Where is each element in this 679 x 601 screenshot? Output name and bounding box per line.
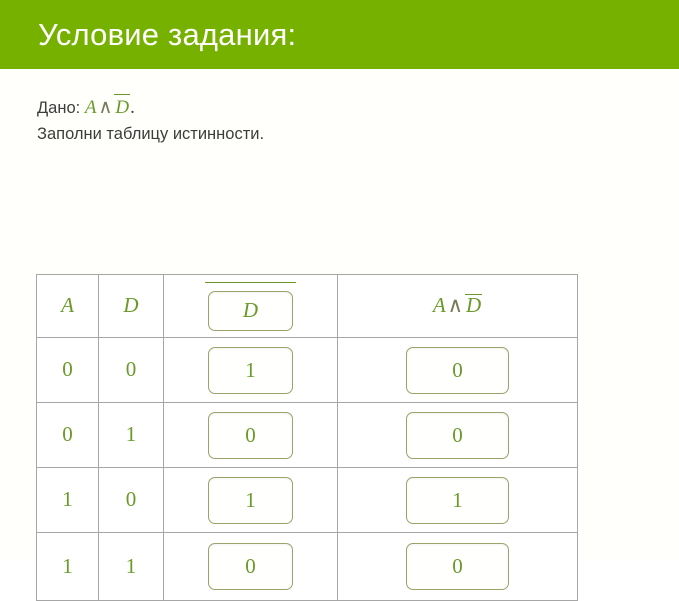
- cell-expression: 0: [338, 403, 578, 468]
- given-line: Дано: A∧D.: [37, 95, 679, 121]
- input-expression[interactable]: 1: [406, 477, 509, 524]
- input-expression[interactable]: 0: [406, 412, 509, 459]
- cell-d: 1: [99, 533, 164, 601]
- input-not-d[interactable]: 1: [208, 477, 293, 524]
- cell-a: 1: [37, 533, 99, 601]
- cell-not-d: 0: [164, 533, 338, 601]
- cell-d-value: 1: [126, 554, 137, 578]
- input-not-d-value: 1: [245, 360, 256, 381]
- header-expr-operand-a: A: [433, 293, 446, 317]
- cell-not-d: 1: [164, 338, 338, 403]
- cell-not-d: 0: [164, 403, 338, 468]
- cell-d-value: 0: [126, 357, 137, 381]
- input-expression-value: 0: [452, 556, 463, 577]
- input-not-d[interactable]: 0: [208, 543, 293, 590]
- table-header-row: A D D A∧D: [37, 275, 578, 338]
- page-header: Условие задания:: [0, 0, 679, 69]
- header-expr-negated-d: D: [465, 295, 482, 316]
- cell-d: 0: [99, 468, 164, 533]
- header-label-expression: A∧D: [433, 293, 482, 317]
- truth-table-container: A D D A∧D: [36, 274, 578, 601]
- header-negation-group: D: [208, 282, 293, 331]
- cell-a-value: 0: [62, 422, 73, 446]
- given-formula: A∧D.: [85, 97, 135, 118]
- given-formula-period: .: [130, 97, 135, 118]
- cell-d-value: 1: [126, 422, 137, 446]
- instruction-line: Заполни таблицу истинности.: [37, 121, 679, 147]
- cell-d: 0: [99, 338, 164, 403]
- input-expression-value: 0: [452, 425, 463, 446]
- table-row: 1 1 0 0: [37, 533, 578, 601]
- table-row: 1 0 1 1: [37, 468, 578, 533]
- cell-a: 0: [37, 403, 99, 468]
- cell-a: 0: [37, 338, 99, 403]
- header-label-d: D: [123, 293, 138, 317]
- cell-a-value: 1: [62, 554, 73, 578]
- input-not-d[interactable]: 0: [208, 412, 293, 459]
- given-label: Дано:: [37, 99, 80, 117]
- header-label-a: A: [61, 293, 74, 317]
- header-input-not-d-value: D: [243, 300, 258, 321]
- cell-expression: 1: [338, 468, 578, 533]
- task-content: Дано: A∧D. Заполни таблицу истинности. A: [0, 69, 679, 561]
- input-not-d[interactable]: 1: [208, 347, 293, 394]
- input-not-d-value: 0: [245, 425, 256, 446]
- cell-expression: 0: [338, 338, 578, 403]
- cell-a-value: 1: [62, 487, 73, 511]
- header-cell-not-d: D: [164, 275, 338, 338]
- table-row: 0 1 0 0: [37, 403, 578, 468]
- overline-bar-icon: [205, 282, 296, 284]
- cell-expression: 0: [338, 533, 578, 601]
- input-expression[interactable]: 0: [406, 347, 509, 394]
- cell-a: 1: [37, 468, 99, 533]
- input-not-d-value: 1: [245, 490, 256, 511]
- header-expr-operator: ∧: [446, 293, 465, 317]
- task-prompt: Дано: A∧D. Заполни таблицу истинности.: [0, 69, 679, 147]
- header-cell-expression: A∧D: [338, 275, 578, 338]
- header-cell-a: A: [37, 275, 99, 338]
- given-formula-operand-a: A: [85, 97, 97, 118]
- cell-not-d: 1: [164, 468, 338, 533]
- input-expression-value: 0: [452, 360, 463, 381]
- given-formula-operand-d: D: [115, 97, 129, 118]
- input-not-d-value: 0: [245, 556, 256, 577]
- truth-table: A D D A∧D: [36, 274, 578, 601]
- header-cell-d: D: [99, 275, 164, 338]
- given-formula-operator: ∧: [96, 97, 114, 118]
- header-input-not-d[interactable]: D: [208, 291, 293, 331]
- input-expression[interactable]: 0: [406, 543, 509, 590]
- input-expression-value: 1: [452, 490, 463, 511]
- cell-d-value: 0: [126, 487, 137, 511]
- table-row: 0 0 1 0: [37, 338, 578, 403]
- given-formula-negated-d: D: [114, 95, 130, 121]
- cell-d: 1: [99, 403, 164, 468]
- cell-a-value: 0: [62, 357, 73, 381]
- header-expr-operand-d: D: [466, 293, 481, 317]
- page-title: Условие задания:: [38, 19, 296, 50]
